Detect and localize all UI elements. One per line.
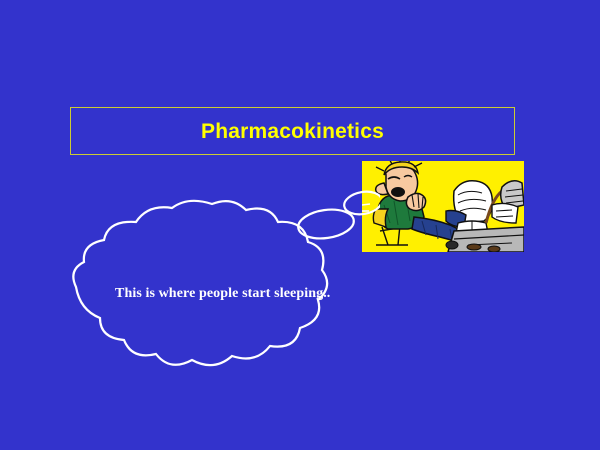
thought-bubble-text: This is where people start sleeping.. [115,286,330,302]
title-box: Pharmacokinetics [70,107,515,155]
slide-canvas: Pharmacokinetics [0,0,600,450]
cartoon-image [362,161,524,252]
thought-trail [296,190,380,242]
cluttered-desk-figure [446,181,524,252]
thought-bubble [60,190,380,380]
page-title: Pharmacokinetics [201,121,384,142]
